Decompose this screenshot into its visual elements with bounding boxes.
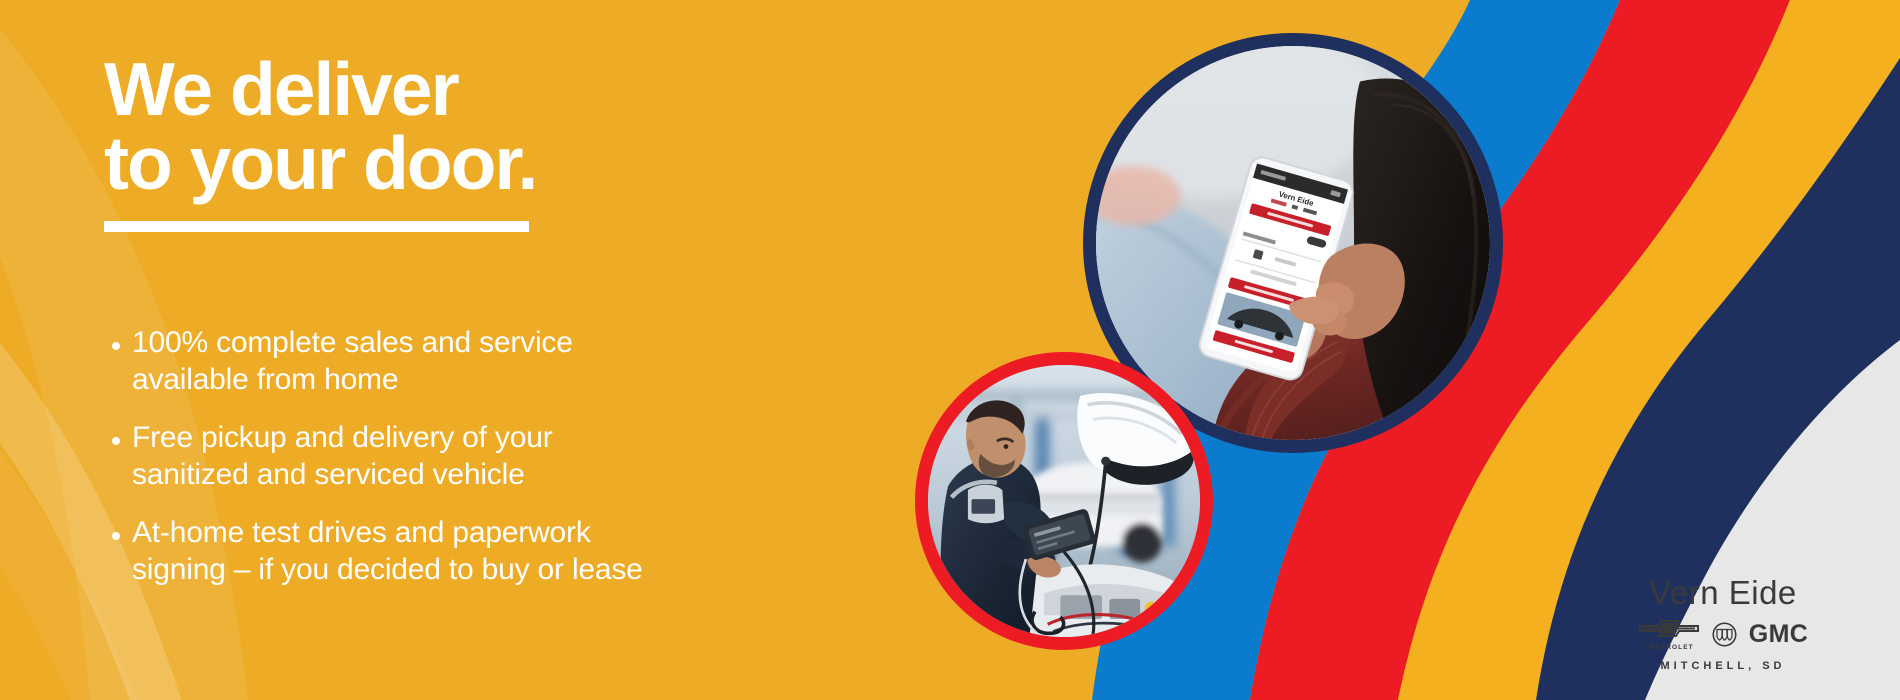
mechanic-illustration: [928, 365, 1200, 637]
list-item: Free pickup and delivery of your sanitiz…: [104, 420, 764, 493]
list-item-label: At-home test drives and paperwork signin…: [132, 515, 643, 588]
list-item: At-home test drives and paperwork signin…: [104, 515, 764, 588]
chevrolet-brand: CHEVROLET: [1638, 618, 1700, 651]
bullet-dot-icon: [112, 532, 120, 540]
logo-dealer-name: Vern Eide: [1598, 576, 1848, 609]
list-item-label: Free pickup and delivery of your sanitiz…: [132, 420, 553, 493]
bullet-dot-icon: [112, 342, 120, 350]
promotional-banner: We deliver to your door. 100% complete s…: [0, 0, 1900, 700]
list-item: 100% complete sales and service availabl…: [104, 325, 764, 398]
headline-text: We deliver to your door.: [104, 52, 744, 201]
logo-city-label: MITCHELL, SD: [1598, 660, 1848, 672]
buick-tri-shield-icon: [1712, 622, 1737, 647]
benefits-list: 100% complete sales and service availabl…: [104, 325, 764, 589]
headline-block: We deliver to your door.: [104, 52, 744, 232]
headline-underline-rule: [104, 221, 529, 232]
bullet-dot-icon: [112, 437, 120, 445]
chevrolet-wordmark: CHEVROLET: [1638, 644, 1700, 651]
photo-mechanic-servicing-vehicle: [915, 352, 1213, 650]
list-item-label: 100% complete sales and service availabl…: [132, 325, 573, 398]
gmc-wordmark: GMC: [1749, 622, 1809, 647]
chevrolet-bowtie-icon: [1638, 618, 1700, 638]
woman-on-phone-illustration: Vern Eide: [1096, 46, 1490, 440]
logo-brand-row: CHEVROLET GMC: [1598, 618, 1848, 651]
dealership-logo: Vern Eide CHEVROLET GMC: [1598, 576, 1848, 672]
